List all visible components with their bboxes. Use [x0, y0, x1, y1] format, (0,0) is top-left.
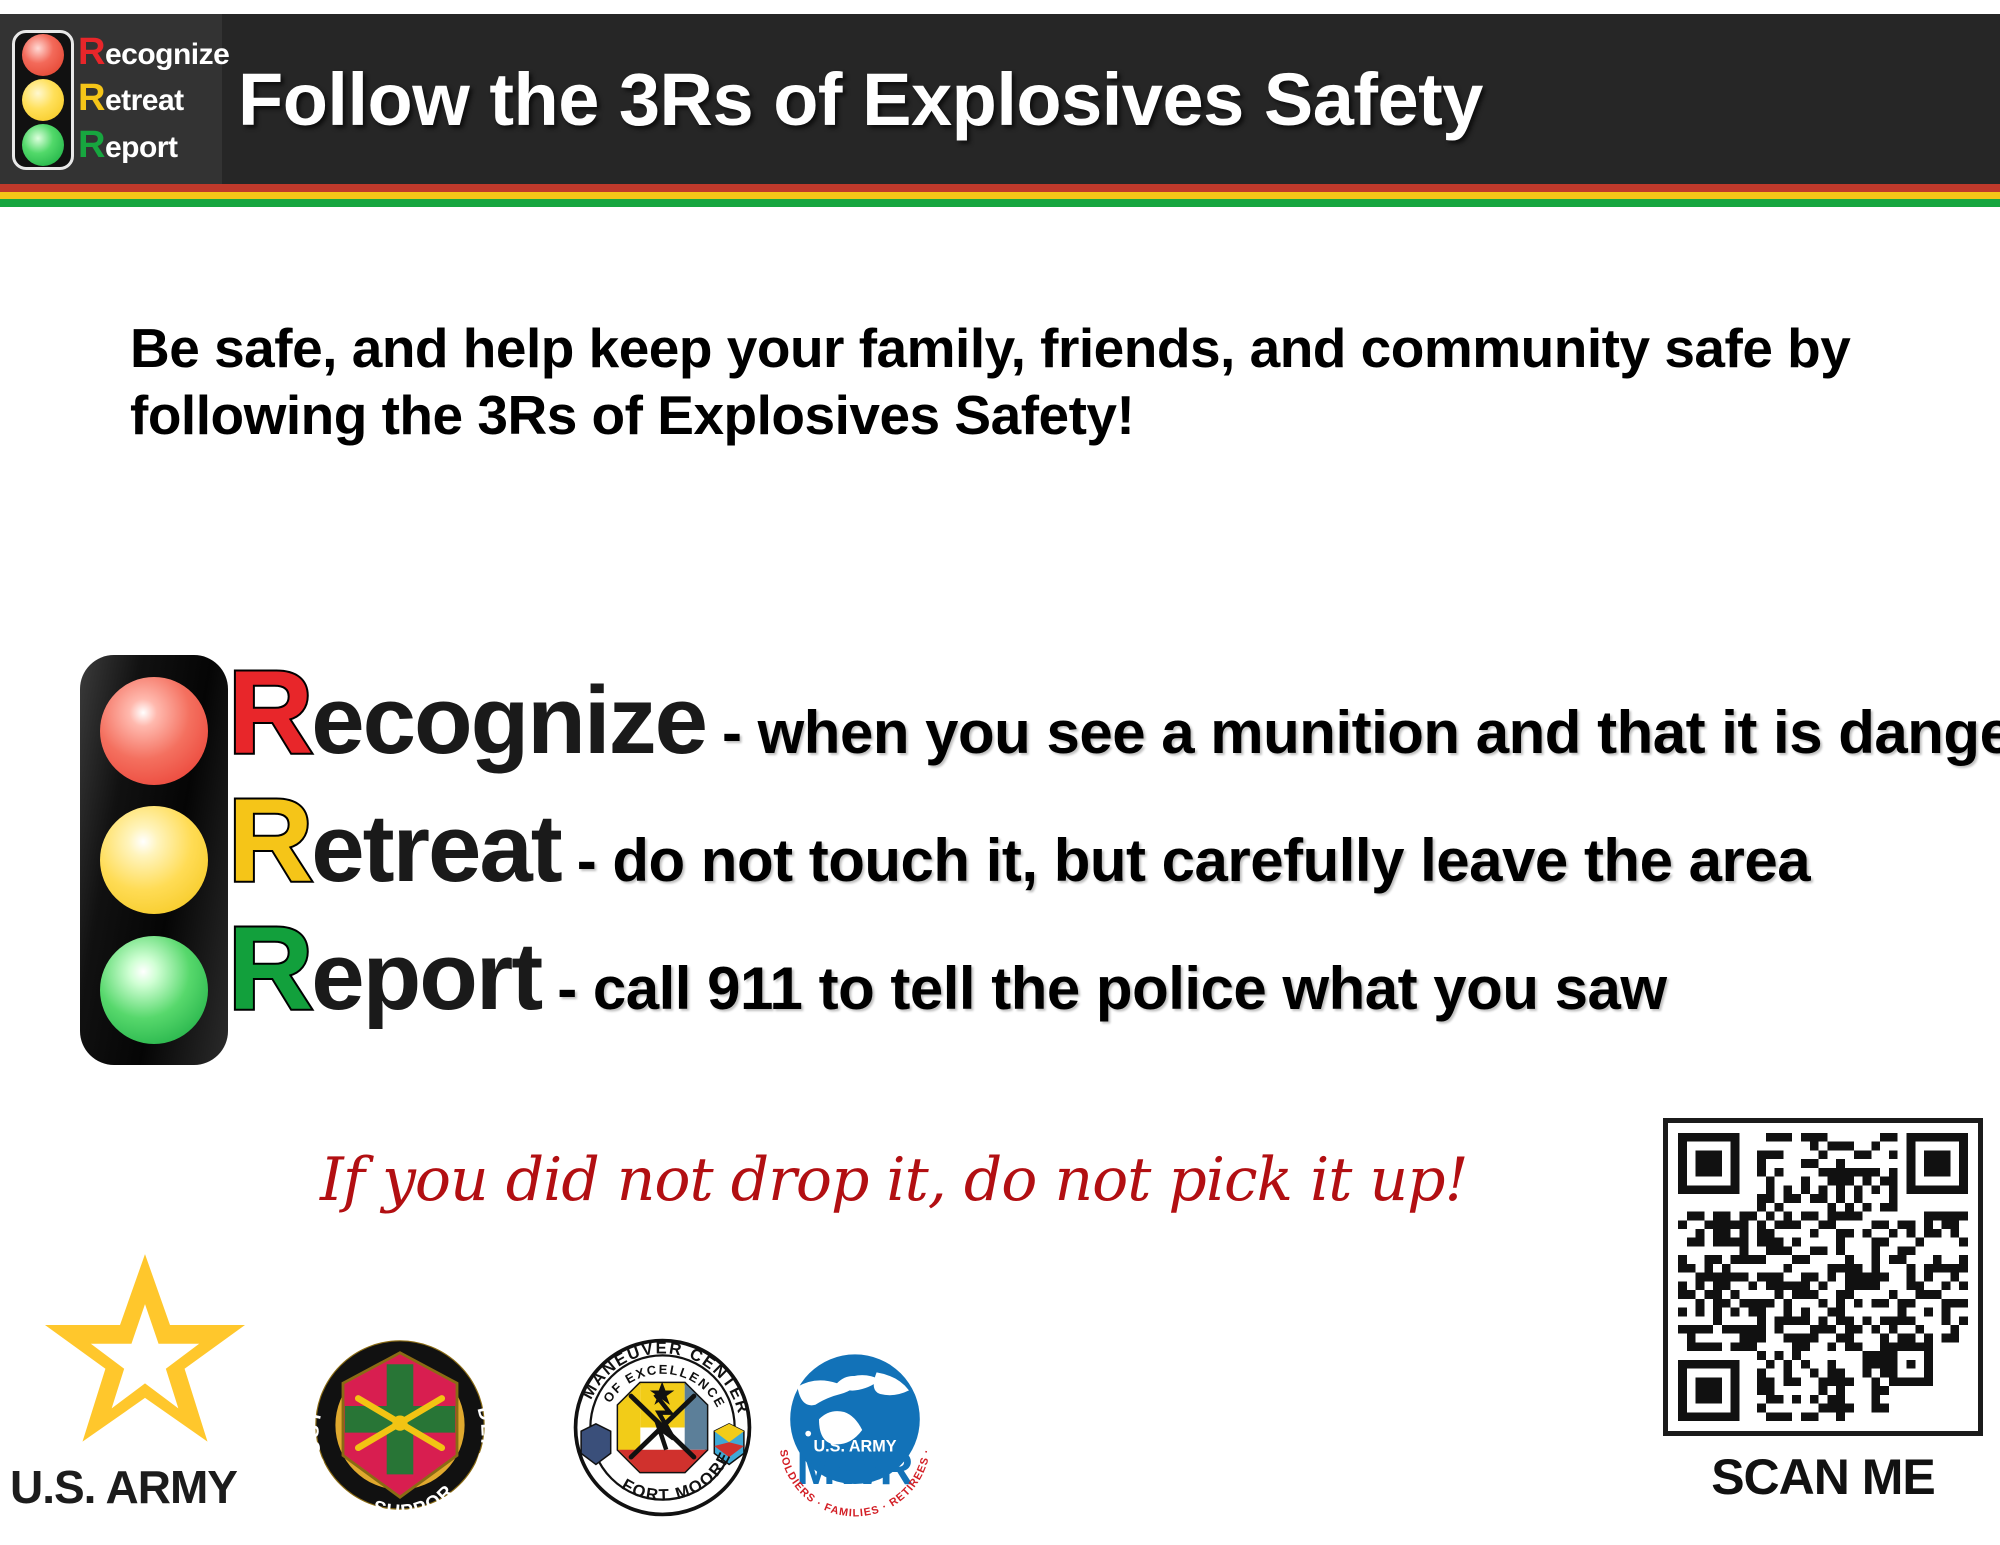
page-title: Follow the 3Rs of Explosives Safety	[238, 14, 1483, 184]
intro-paragraph: Be safe, and help keep your family, frie…	[130, 315, 1920, 449]
three-rs-word-report: Report	[228, 921, 541, 1025]
logo-word-recognize: Recognize	[78, 37, 218, 70]
red-lamp-icon	[100, 677, 208, 785]
imcom-crest-icon: SUSTAIN DEFEND SUPPORT	[305, 1325, 495, 1525]
us-army-label: U.S. ARMY	[10, 1460, 237, 1514]
qr-code-block[interactable]: SCAN ME	[1663, 1118, 1983, 1538]
three-rs-section: Recognize - when you see a munition and …	[80, 655, 1960, 1075]
logo-rest-retreat: etreat	[105, 84, 184, 117]
logo-word-stack: Recognize Retreat Report	[78, 30, 218, 170]
tagline-text: If you did not drop it, do not pick it u…	[320, 1145, 1620, 1215]
three-rs-word-recognize: Recognize	[228, 665, 706, 769]
logo-cap-r-red: R	[78, 31, 105, 73]
three-rs-desc-report: - call 911 to tell the police what you s…	[557, 954, 1666, 1023]
three-rs-rest-recognize: ecognize	[311, 667, 706, 774]
army-star-icon	[40, 1250, 250, 1450]
logo-cap-r-yellow: R	[78, 77, 105, 119]
rule-stripe-red	[0, 184, 2000, 192]
three-rs-desc-recognize: - when you see a munition and that it is…	[722, 698, 2000, 767]
traffic-signal-icon-small	[12, 30, 74, 170]
header-bar: Recognize Retreat Report Follow the 3Rs …	[0, 14, 2000, 184]
yellow-lamp-icon	[100, 806, 208, 914]
three-rs-rest-retreat: etreat	[311, 795, 560, 902]
three-rs-cap-r-red: R	[228, 647, 311, 779]
qr-code-frame[interactable]	[1663, 1118, 1983, 1436]
logo-cap-r-green: R	[78, 124, 105, 166]
green-lamp-icon-small	[22, 124, 64, 166]
three-rs-row-report: Report - call 911 to tell the police wha…	[228, 921, 1667, 1025]
green-lamp-icon	[100, 936, 208, 1044]
rule-stripe-yellow	[0, 192, 2000, 199]
rule-stripe-green	[0, 199, 2000, 207]
logo-rest-recognize: ecognize	[105, 38, 229, 71]
logo-word-report: Report	[78, 130, 218, 163]
three-rs-desc-retreat: - do not touch it, but carefully leave t…	[577, 826, 1810, 895]
three-rs-row-recognize: Recognize - when you see a munition and …	[228, 665, 2000, 769]
three-rs-row-retreat: Retreat - do not touch it, but carefully…	[228, 793, 1810, 897]
three-rs-cap-r-yellow: R	[228, 775, 311, 907]
three-rs-rest-report: eport	[311, 923, 541, 1030]
traffic-light-icon	[80, 655, 228, 1065]
red-lamp-icon-small	[22, 34, 64, 76]
three-rs-logo: Recognize Retreat Report	[0, 14, 222, 184]
three-rs-word-retreat: Retreat	[228, 793, 561, 897]
yellow-lamp-icon-small	[22, 79, 64, 121]
mwr-main-text: MWR	[797, 1442, 914, 1494]
three-rs-cap-r-green: R	[228, 903, 311, 1035]
mwr-globe-icon: U.S. ARMY MWR SOLDIERS · FAMILIES · RETI…	[765, 1340, 945, 1520]
logo-rest-report: eport	[105, 131, 178, 164]
qr-code-image[interactable]	[1678, 1133, 1968, 1421]
scan-me-label: SCAN ME	[1663, 1448, 1983, 1506]
logo-word-retreat: Retreat	[78, 83, 218, 116]
mcoe-crest-icon: MANEUVER CENTER OF EXCELLENCE FORT MOORE	[570, 1335, 755, 1520]
